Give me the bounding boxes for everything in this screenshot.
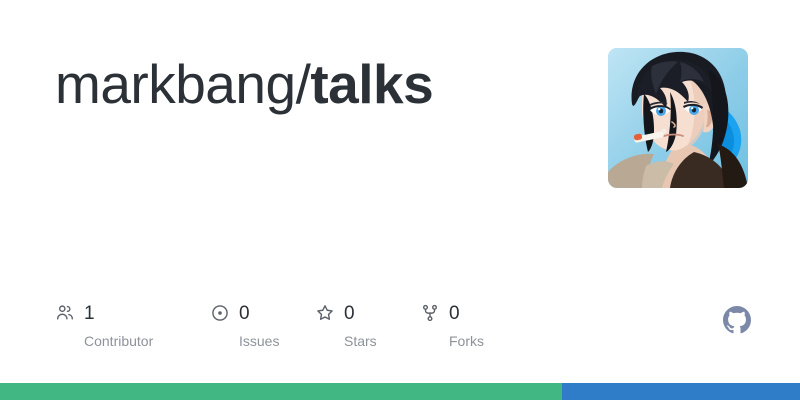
repo-stats: 1 Contributor 0 Issues <box>55 301 525 348</box>
stat-issues-count: 0 <box>239 304 250 323</box>
repo-separator: / <box>296 53 311 115</box>
stat-stars-count: 0 <box>344 304 355 323</box>
repo-forked-icon <box>420 303 440 323</box>
issue-opened-icon <box>210 303 230 323</box>
stat-stars-label: Stars <box>344 334 377 348</box>
stat-forks-label: Forks <box>449 334 484 348</box>
stat-issues[interactable]: 0 Issues <box>210 301 315 348</box>
stat-forks-count: 0 <box>449 304 460 323</box>
bar-segment-secondary <box>562 383 800 400</box>
repo-name: talks <box>310 53 433 115</box>
star-icon <box>315 303 335 323</box>
stat-contributors-top: 1 <box>55 301 95 325</box>
stat-forks-top: 0 <box>420 301 460 325</box>
repo-card: markbang/talks <box>0 0 800 400</box>
stat-stars-top: 0 <box>315 301 355 325</box>
stat-contributors-label: Contributor <box>84 334 153 348</box>
bar-segment-primary <box>0 383 562 400</box>
stat-forks[interactable]: 0 Forks <box>420 301 525 348</box>
bottom-language-bar <box>0 383 800 400</box>
avatar <box>608 48 748 188</box>
stat-contributors-count: 1 <box>84 304 95 323</box>
github-mark-icon <box>723 306 751 334</box>
page-title: markbang/talks <box>55 57 433 112</box>
stat-stars[interactable]: 0 Stars <box>315 301 420 348</box>
stat-contributors[interactable]: 1 Contributor <box>55 301 210 348</box>
people-icon <box>55 303 75 323</box>
stat-issues-label: Issues <box>239 334 279 348</box>
repo-owner: markbang <box>55 53 296 115</box>
avatar-illustration-icon <box>608 48 748 188</box>
stat-issues-top: 0 <box>210 301 250 325</box>
